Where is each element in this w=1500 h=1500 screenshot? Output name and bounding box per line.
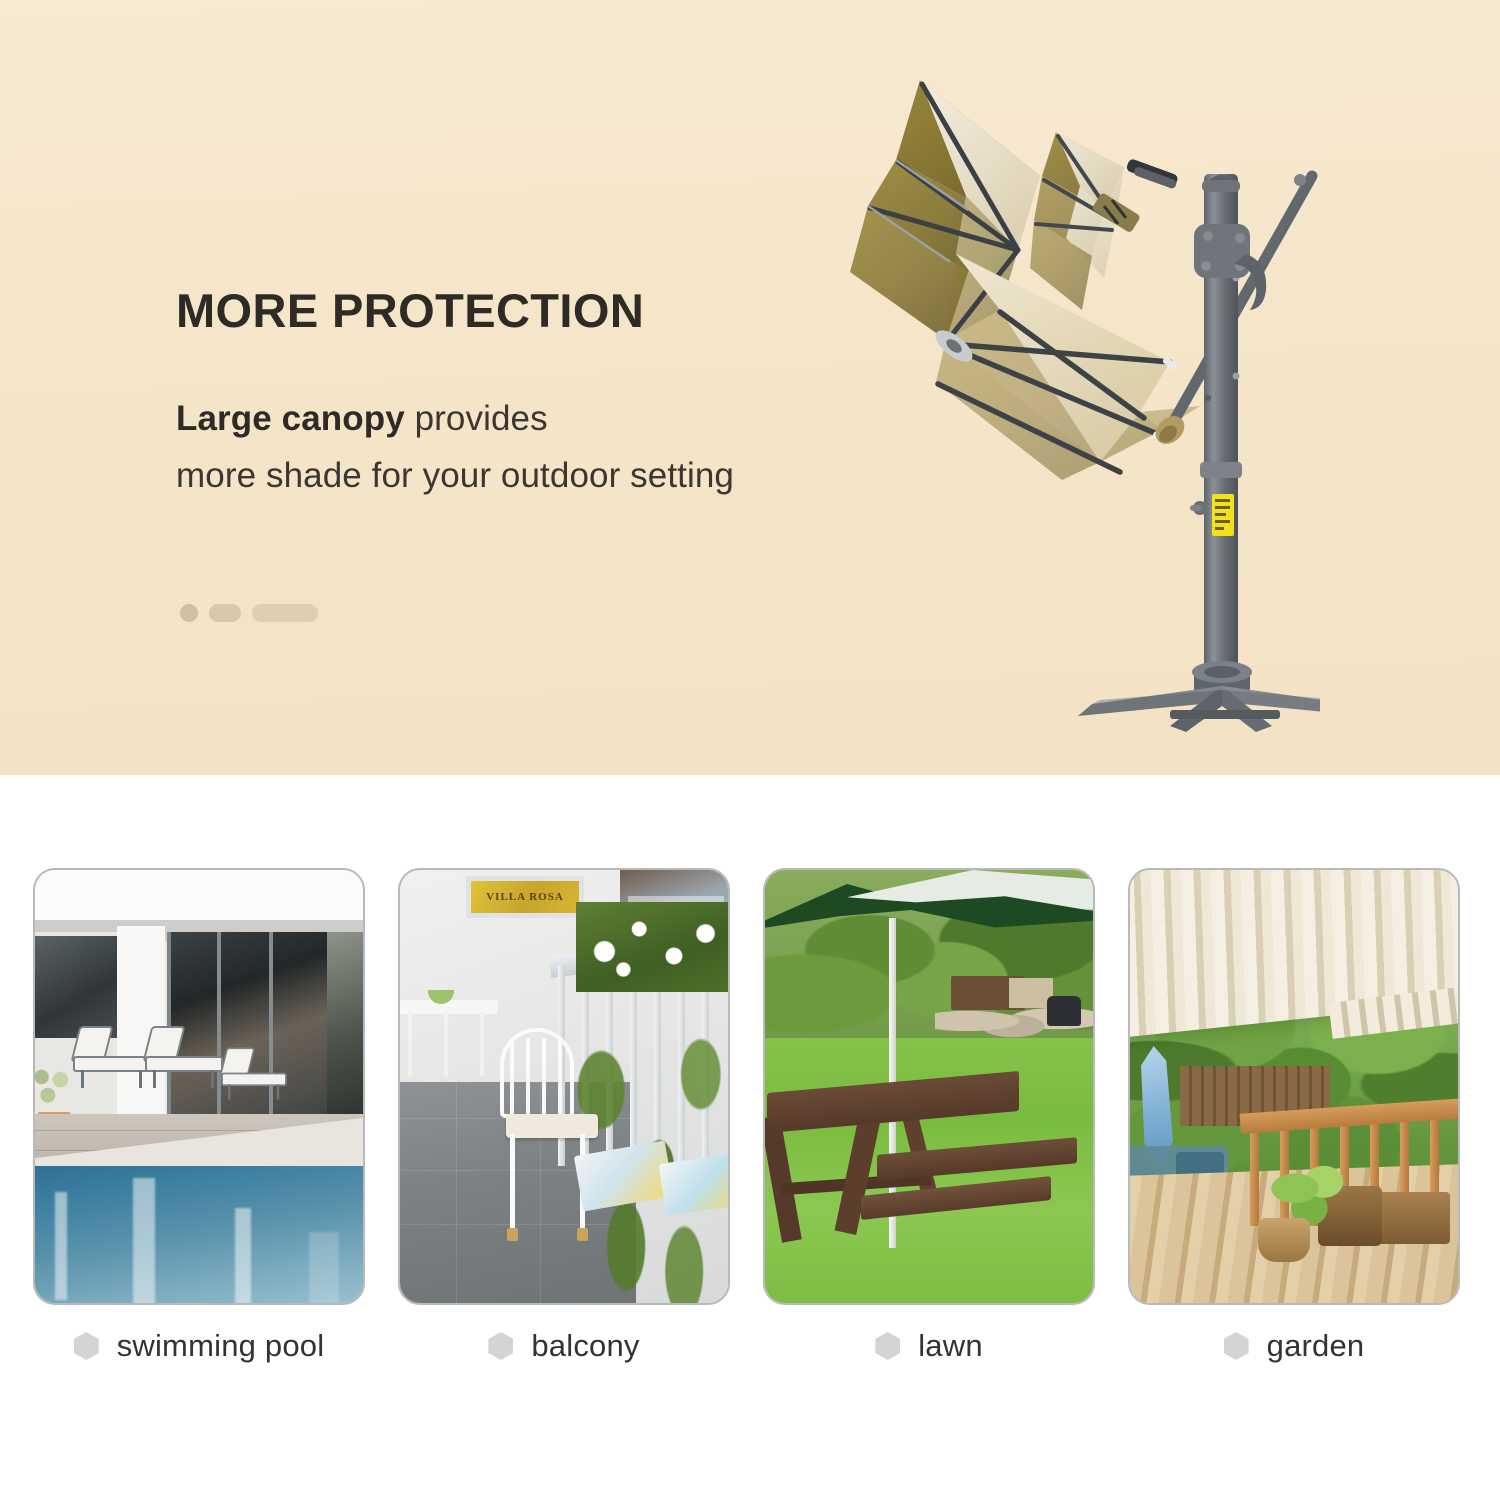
usage-scenarios-strip: VILLA ROSA [0,775,1500,1500]
hexagon-bullet-icon [875,1332,900,1360]
hero-banner: MORE PROTECTION Large canopy provides mo… [0,0,1500,775]
indicator-long-dash [252,604,318,622]
product-umbrella-image [700,10,1320,750]
garden-photo [1130,870,1458,1303]
caption-swimming-pool: swimming pool [33,1328,365,1364]
scene-caption-row: swimming pool balcony lawn garden [33,1328,1460,1364]
subtitle-emphasis: Large canopy [176,399,405,438]
scene-thumbnail-balcony[interactable]: VILLA ROSA [398,868,730,1305]
hexagon-bullet-icon [74,1332,99,1360]
caption-label: garden [1267,1328,1365,1364]
scene-thumbnail-swimming-pool[interactable] [33,868,365,1305]
caption-label: balcony [531,1328,639,1364]
caption-label: lawn [918,1328,983,1364]
villa-rosa-sign: VILLA ROSA [471,881,579,913]
lawn-photo [765,870,1093,1303]
scene-thumbnail-garden[interactable] [1128,868,1460,1305]
swimming-pool-photo [35,870,363,1303]
indicator-short-dash [209,604,241,622]
subtitle-rest: provides [405,399,548,438]
caption-label: swimming pool [117,1328,325,1364]
caption-lawn: lawn [763,1328,1095,1364]
carousel-indicator [180,604,318,622]
indicator-dot [180,604,198,622]
caption-balcony: balcony [398,1328,730,1364]
scene-thumbnail-row: VILLA ROSA [33,868,1460,1305]
subtitle-line-two: more shade for your outdoor setting [176,456,734,495]
hexagon-bullet-icon [1224,1332,1249,1360]
hexagon-bullet-icon [488,1332,513,1360]
caption-garden: garden [1128,1328,1460,1364]
scene-thumbnail-lawn[interactable] [763,868,1095,1305]
balcony-photo: VILLA ROSA [400,870,728,1303]
